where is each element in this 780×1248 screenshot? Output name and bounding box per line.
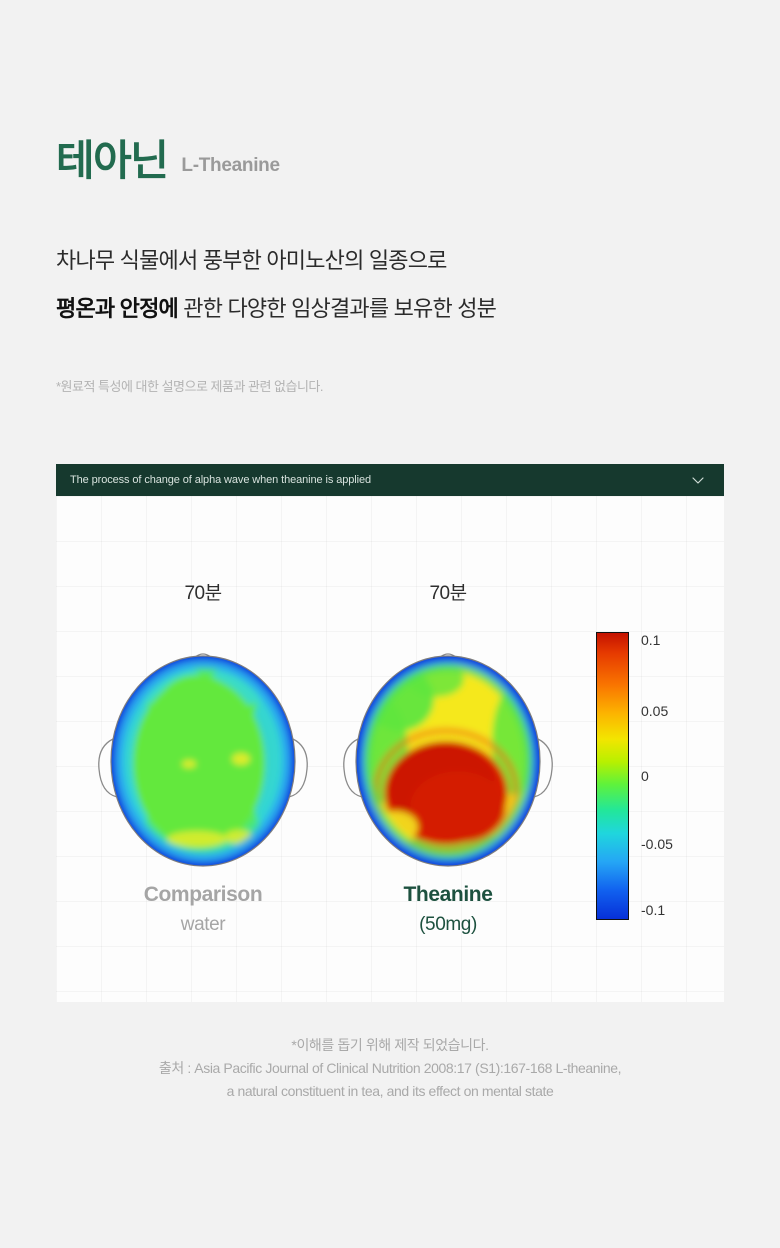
page-root: 테아닌 L-Theanine 차나무 식물에서 풍부한 아미노산의 일종으로 평… (0, 0, 780, 1248)
description-line-2-rest: 관한 다양한 임상결과를 보유한 성분 (178, 296, 496, 321)
chart-plot-area: 70분 (56, 496, 724, 1002)
description-line-1: 차나무 식물에서 풍부한 아미노산의 일종으로 (56, 250, 496, 272)
description-line-2: 평온과 안정에 관한 다양한 임상결과를 보유한 성분 (56, 298, 496, 320)
condition-dose-comparison: water (93, 914, 313, 936)
description-block: 차나무 식물에서 풍부한 아미노산의 일종으로 평온과 안정에 관한 다양한 임… (56, 250, 496, 346)
brain-map-theanine: 70분 (338, 578, 558, 936)
footnote-source-line-2: a natural constituent in tea, and its ef… (0, 1080, 780, 1103)
description-emphasis: 평온과 안정에 (56, 296, 178, 321)
condition-dose-theanine: (50mg) (338, 914, 558, 936)
brain-map-comparison: 70분 (93, 578, 313, 936)
title-english: L-Theanine (181, 155, 279, 182)
condition-name-comparison: Comparison (93, 883, 313, 907)
colorbar-tick-0: 0.1 (641, 632, 660, 648)
colorbar-tick-1: 0.05 (641, 703, 668, 719)
chart-panel: The process of change of alpha wave when… (56, 464, 724, 1002)
condition-name-theanine: Theanine (338, 883, 558, 907)
colorbar-tick-3: -0.05 (641, 836, 673, 852)
time-label-comparison: 70분 (93, 578, 313, 605)
colorbar-legend: 0.1 0.05 0 -0.05 -0.1 (596, 632, 629, 920)
chart-panel-title: The process of change of alpha wave when… (70, 474, 371, 486)
disclaimer-text: *원료적 특성에 대한 설명으로 제품과 관련 없습니다. (56, 376, 323, 395)
colorbar-tick-2: 0 (641, 768, 649, 784)
footnote-line-1: *이해를 돕기 위해 제작 되었습니다. (0, 1034, 780, 1057)
time-label-theanine: 70분 (338, 578, 558, 605)
page-title: 테아닌 L-Theanine (56, 140, 280, 182)
footnote-block: *이해를 돕기 위해 제작 되었습니다. 출처 : Asia Pacific J… (0, 1034, 780, 1103)
title-korean: 테아닌 (56, 140, 167, 182)
chevron-down-icon[interactable] (690, 472, 706, 488)
footnote-source-line-1: 출처 : Asia Pacific Journal of Clinical Nu… (0, 1057, 780, 1080)
brain-topomap-theanine (338, 621, 558, 869)
brain-topomap-comparison (93, 621, 313, 869)
colorbar-gradient (596, 632, 629, 920)
colorbar-ticks: 0.1 0.05 0 -0.05 -0.1 (641, 632, 711, 920)
chart-panel-header[interactable]: The process of change of alpha wave when… (56, 464, 724, 496)
colorbar-tick-4: -0.1 (641, 902, 665, 918)
